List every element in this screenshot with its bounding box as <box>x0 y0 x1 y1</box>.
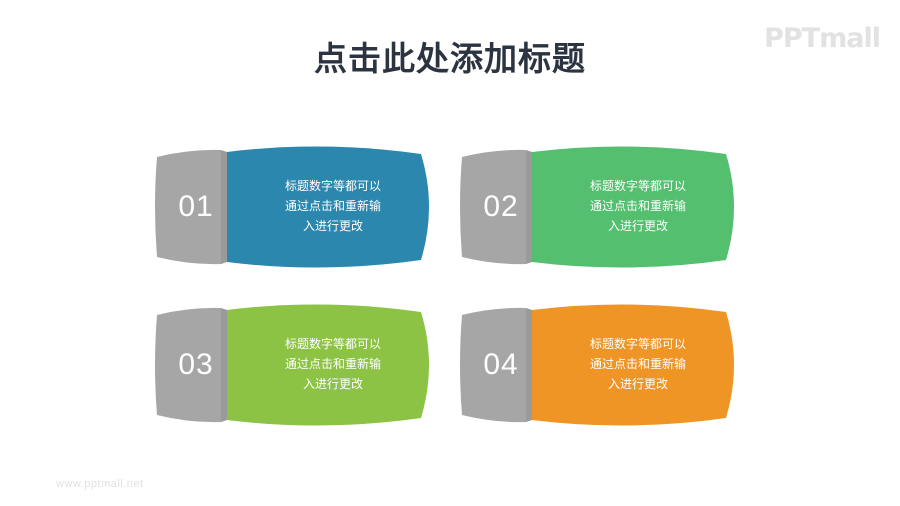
barrel-body-text-03: 标题数字等都可以 通过点击和重新输 入进行更改 <box>235 300 431 430</box>
footer-url: www.pptmall.net <box>56 478 144 490</box>
barrel-text-line: 标题数字等都可以 <box>590 334 686 354</box>
barrel-number-03: 03 <box>165 300 227 430</box>
barrel-number-04: 04 <box>470 300 532 430</box>
barrel-body-text-01: 标题数字等都可以 通过点击和重新输 入进行更改 <box>235 142 431 272</box>
barrel-text-line: 通过点击和重新输 <box>285 354 381 374</box>
barrel-text-line: 入进行更改 <box>608 216 668 236</box>
barrel-item-01[interactable]: 01 标题数字等都可以 通过点击和重新输 入进行更改 <box>153 142 437 272</box>
barrel-text-line: 标题数字等都可以 <box>590 176 686 196</box>
barrel-text-line: 入进行更改 <box>608 374 668 394</box>
barrel-text-line: 入进行更改 <box>303 374 363 394</box>
barrel-number-01: 01 <box>165 142 227 272</box>
barrel-text-line: 通过点击和重新输 <box>590 196 686 216</box>
barrel-item-02[interactable]: 02 标题数字等都可以 通过点击和重新输 入进行更改 <box>458 142 742 272</box>
barrel-item-04[interactable]: 04 标题数字等都可以 通过点击和重新输 入进行更改 <box>458 300 742 430</box>
barrel-text-line: 入进行更改 <box>303 216 363 236</box>
slide-canvas: 点击此处添加标题 PPTmall 01 标题数字等都可以 通过点击和重新输 入进… <box>0 0 900 506</box>
barrel-text-line: 通过点击和重新输 <box>590 354 686 374</box>
pptmall-logo: PPTmall <box>764 24 880 54</box>
barrel-text-line: 标题数字等都可以 <box>285 176 381 196</box>
barrel-text-line: 标题数字等都可以 <box>285 334 381 354</box>
barrel-text-line: 通过点击和重新输 <box>285 196 381 216</box>
barrel-body-text-02: 标题数字等都可以 通过点击和重新输 入进行更改 <box>540 142 736 272</box>
barrel-body-text-04: 标题数字等都可以 通过点击和重新输 入进行更改 <box>540 300 736 430</box>
barrel-item-03[interactable]: 03 标题数字等都可以 通过点击和重新输 入进行更改 <box>153 300 437 430</box>
barrel-number-02: 02 <box>470 142 532 272</box>
